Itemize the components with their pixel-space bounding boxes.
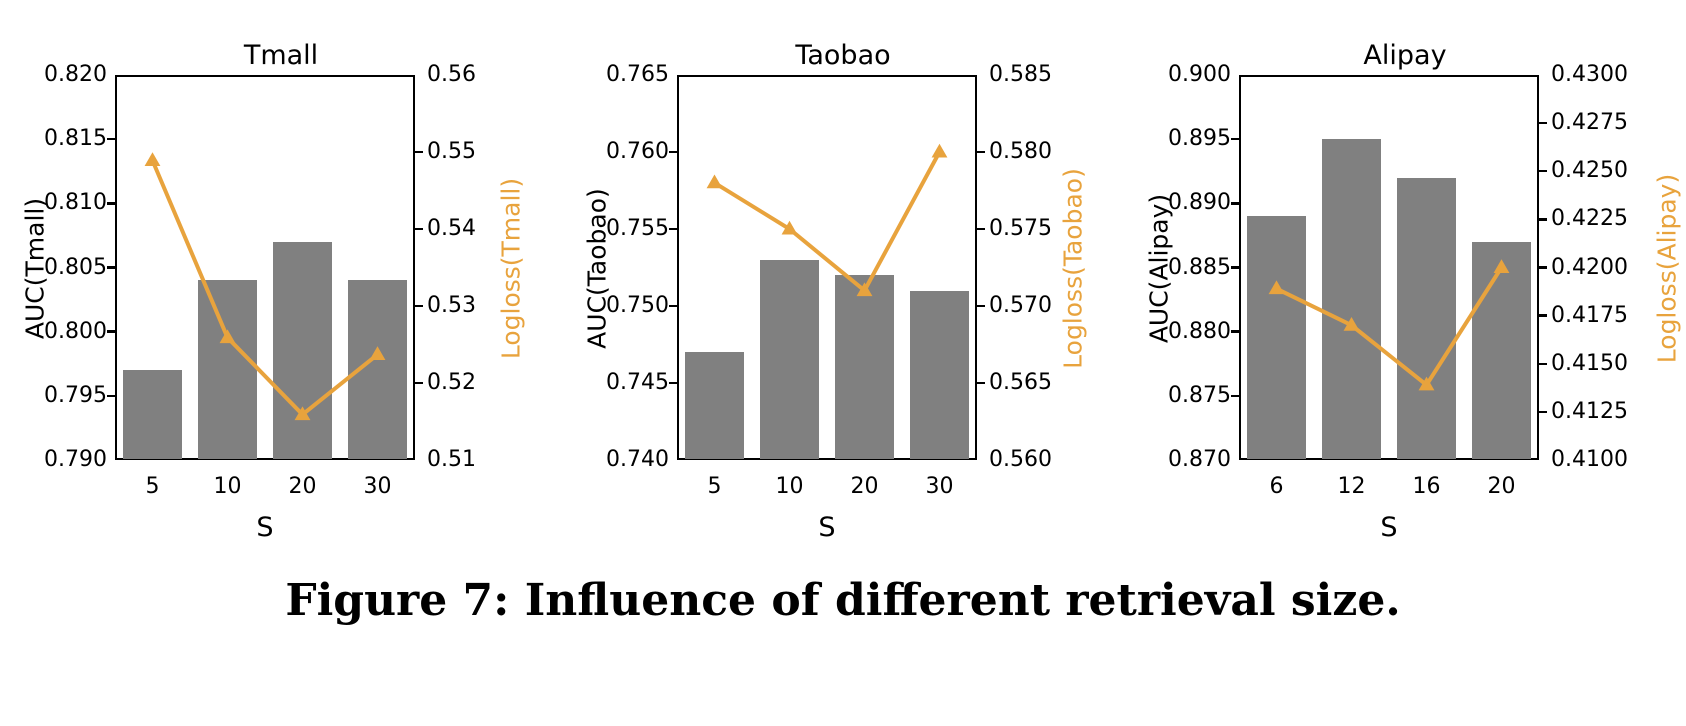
triangle-up-icon bbox=[1269, 280, 1285, 294]
figure-caption: Figure 7: Influence of different retriev… bbox=[0, 575, 1686, 626]
logloss-line bbox=[715, 152, 940, 291]
logloss-line-series bbox=[1124, 0, 1686, 545]
triangle-up-icon bbox=[707, 175, 723, 189]
y-axis-label-right: Logloss(Alipay) bbox=[1653, 138, 1682, 398]
triangle-up-icon bbox=[932, 144, 948, 158]
y-axis-label-right: Logloss(Tmall) bbox=[497, 138, 526, 398]
panel-row: Tmall0.7900.7950.8000.8050.8100.8150.820… bbox=[0, 0, 1686, 545]
y-axis-label-left: AUC(Taobao) bbox=[583, 138, 612, 398]
x-axis-label: S bbox=[1239, 512, 1539, 543]
triangle-up-icon bbox=[370, 346, 386, 360]
triangle-up-icon bbox=[220, 329, 236, 343]
panel-taobao: Taobao0.7400.7450.7500.7550.7600.7650.56… bbox=[562, 0, 1124, 545]
y-axis-label-right: Logloss(Taobao) bbox=[1059, 138, 1088, 398]
triangle-up-icon bbox=[1494, 259, 1510, 273]
figure-container: Tmall0.7900.7950.8000.8050.8100.8150.820… bbox=[0, 0, 1686, 726]
y-axis-label-left: AUC(Alipay) bbox=[1145, 138, 1174, 398]
x-axis-label: S bbox=[115, 512, 415, 543]
logloss-line-series bbox=[562, 0, 1124, 545]
panel-tmall: Tmall0.7900.7950.8000.8050.8100.8150.820… bbox=[0, 0, 562, 545]
logloss-line bbox=[1277, 268, 1502, 385]
logloss-line-series bbox=[0, 0, 562, 545]
x-axis-label: S bbox=[677, 512, 977, 543]
y-axis-label-left: AUC(Tmall) bbox=[21, 138, 50, 398]
logloss-line bbox=[153, 160, 378, 414]
triangle-up-icon bbox=[145, 152, 161, 166]
panel-alipay: Alipay0.8700.8750.8800.8850.8900.8950.90… bbox=[1124, 0, 1686, 545]
